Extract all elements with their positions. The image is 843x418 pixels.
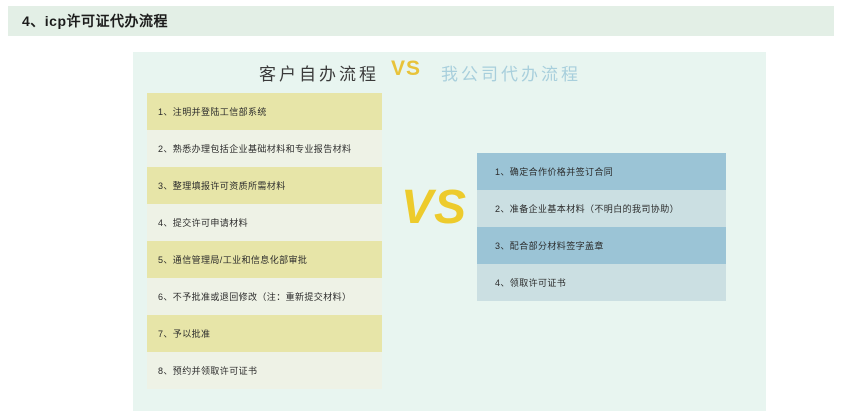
- list-item: 6、不予批准或退回修改（注：重新提交材料）: [147, 278, 382, 315]
- list-item-label: 2、准备企业基本材料（不明白的我司协助）: [495, 202, 679, 215]
- list-item: 1、确定合作价格并签订合同: [477, 153, 726, 190]
- section-header: 4、icp许可证代办流程: [8, 6, 834, 36]
- list-item: 4、提交许可申请材料: [147, 204, 382, 241]
- list-item: 7、予以批准: [147, 315, 382, 352]
- list-item: 2、准备企业基本材料（不明白的我司协助）: [477, 190, 726, 227]
- list-item-label: 1、注明并登陆工信部系统: [158, 105, 267, 118]
- customer-flow-list: 1、注明并登陆工信部系统 2、熟悉办理包括企业基础材料和专业报告材料 3、整理填…: [147, 93, 382, 389]
- column-headings: 客户自办流程 VS 我公司代办流程: [133, 52, 766, 92]
- heading-vs-label: VS: [391, 57, 421, 81]
- list-item-label: 8、预约并领取许可证书: [158, 364, 257, 377]
- list-item-label: 3、配合部分材料签字盖章: [495, 239, 604, 252]
- versus-separator: VS: [388, 184, 480, 232]
- list-item: 4、领取许可证书: [477, 264, 726, 301]
- list-item: 2、熟悉办理包括企业基础材料和专业报告材料: [147, 130, 382, 167]
- list-item-label: 7、予以批准: [158, 327, 210, 340]
- list-item-label: 3、整理填报许可资质所需材料: [158, 179, 286, 192]
- list-item: 8、预约并领取许可证书: [147, 352, 382, 389]
- list-item-label: 4、领取许可证书: [495, 276, 566, 289]
- company-flow-list: 1、确定合作价格并签订合同 2、准备企业基本材料（不明白的我司协助） 3、配合部…: [477, 153, 726, 301]
- list-item: 5、通信管理局/工业和信息化部审批: [147, 241, 382, 278]
- heading-customer-flow: 客户自办流程: [259, 60, 379, 85]
- list-item-label: 4、提交许可申请材料: [158, 216, 248, 229]
- heading-company-flow: 我公司代办流程: [441, 60, 581, 85]
- list-item: 3、配合部分材料签字盖章: [477, 227, 726, 264]
- list-item-label: 6、不予批准或退回修改（注：重新提交材料）: [158, 290, 351, 303]
- list-item-label: 1、确定合作价格并签订合同: [495, 165, 613, 178]
- comparison-panel: 客户自办流程 VS 我公司代办流程 1、注明并登陆工信部系统 2、熟悉办理包括企…: [133, 52, 766, 411]
- list-item-label: 5、通信管理局/工业和信息化部审批: [158, 253, 307, 266]
- page-title: 4、icp许可证代办流程: [8, 11, 168, 31]
- list-item: 3、整理填报许可资质所需材料: [147, 167, 382, 204]
- list-item-label: 2、熟悉办理包括企业基础材料和专业报告材料: [158, 142, 351, 155]
- list-item: 1、注明并登陆工信部系统: [147, 93, 382, 130]
